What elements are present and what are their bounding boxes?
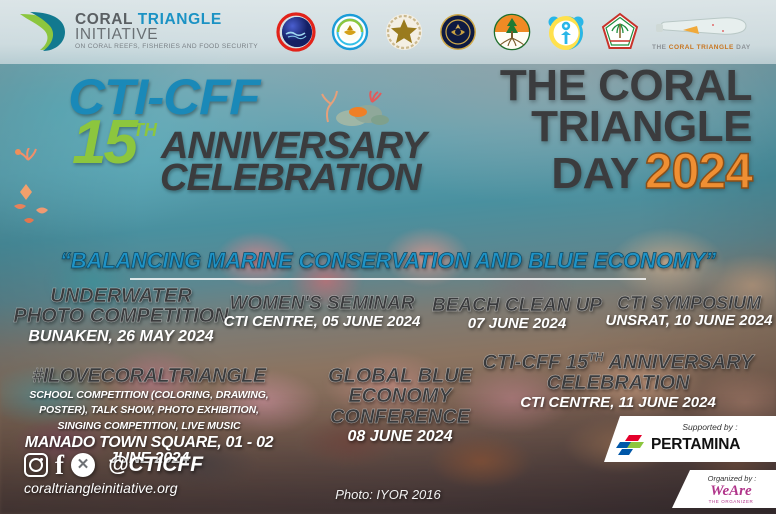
- cti-logo-line3: ON CORAL REEFS, FISHERIES AND FOOD SECUR…: [75, 43, 258, 51]
- organizer-caption: Organized by :: [708, 474, 757, 483]
- cti-logo-line2: INITIATIVE: [75, 27, 258, 43]
- tagline-divider: [130, 278, 646, 280]
- event-subtitle: CTI CENTRE, 11 JUNE 2024: [462, 395, 774, 411]
- message-in-a-bottle-icon: [653, 14, 749, 42]
- weare-organizer-logo-icon: WeAre: [710, 484, 751, 499]
- event-beach-clean-up: BEACH CLEAN UP 07 JUNE 2024: [432, 296, 602, 332]
- manado-city-mascot-logo-icon: [546, 12, 586, 52]
- sponsor-body: PERTAMINA: [616, 434, 776, 456]
- event-title-line2: PHOTO COMPETITION: [6, 306, 236, 326]
- right-title-block: THE CORAL TRIANGLE DAY 2024: [422, 66, 752, 195]
- social-icon-row: f ✕ @CTICFF: [24, 453, 203, 477]
- event-detail-line1: SCHOOL COMPETITION (COLORING, DRAWING,: [2, 389, 296, 401]
- cti-cff-title: CTI-CFF: [68, 74, 456, 122]
- coral-day-line3-row: DAY 2024: [422, 148, 752, 195]
- event-title-line2: CELEBRATION: [462, 373, 774, 393]
- event-detail-line2: POSTER), TALK SHOW, PHOTO EXHIBITION,: [2, 404, 296, 416]
- event-title-line1: CTI SYMPOSIUM: [604, 294, 774, 312]
- event-cti-cff-15th-anniversary-celebration: CTI-CFF 15TH ANNIVERSARY CELEBRATION CTI…: [462, 352, 774, 411]
- poster-canvas: CORAL TRIANGLE INITIATIVE ON CORAL REEFS…: [0, 0, 776, 514]
- event-title-line1: BEACH CLEAN UP: [432, 296, 602, 315]
- celebration-word: CELEBRATION: [160, 161, 452, 195]
- instagram-icon[interactable]: [24, 453, 48, 477]
- coordinating-ministry-maritime-affairs-seal-icon: [276, 12, 316, 52]
- sponsor-caption: Supported by :: [644, 422, 776, 432]
- event-title-line1: UNDERWATER: [6, 286, 236, 306]
- organizer-card: Organized by : WeAre THE ORGANIZER: [672, 470, 776, 508]
- event-subtitle: CTI CENTRE, 05 JUNE 2024: [214, 314, 430, 330]
- facebook-icon[interactable]: f: [55, 453, 64, 477]
- event-detail-line3: SINGING COMPETITION, LIVE MUSIC: [2, 420, 296, 432]
- pertamina-arrow-logo-icon: [616, 434, 646, 456]
- event-underwater-photo-competition: UNDERWATER PHOTO COMPETITION BUNAKEN, 26…: [6, 286, 236, 346]
- social-handle: @CTICFF: [108, 453, 203, 477]
- cti-swoosh-logo-icon: [16, 10, 66, 54]
- event-title-line1: #ILOVECORALTRIANGLE: [2, 366, 296, 386]
- coral-day-line3: DAY: [551, 154, 638, 195]
- x-twitter-icon[interactable]: ✕: [71, 453, 95, 477]
- sponsor-name: PERTAMINA: [651, 436, 740, 454]
- cti-logo-wordmark: CORAL TRIANGLE INITIATIVE ON CORAL REEFS…: [75, 12, 258, 51]
- event-subtitle: UNSRAT, 10 JUNE 2024: [604, 313, 774, 329]
- event-title-line1: CTI-CFF 15TH ANNIVERSARY: [462, 352, 774, 373]
- poster-tagline: “BALANCING MARINE CONSERVATION AND BLUE …: [0, 248, 776, 274]
- coral-day-line1: THE CORAL: [422, 66, 752, 107]
- coral-day-line2: TRIANGLE: [422, 107, 752, 148]
- national-agency-navy-blue-seal-icon: [438, 12, 478, 52]
- coral-day-year: 2024: [645, 148, 752, 195]
- event-subtitle: 08 JUNE 2024: [292, 429, 508, 446]
- ministry-marine-affairs-fisheries-seal-icon: [330, 12, 370, 52]
- left-title-block: CTI-CFF 15 TH ANNIVERSARY CELEBRATION: [72, 74, 452, 195]
- cti-cff-logo: CORAL TRIANGLE INITIATIVE ON CORAL REEFS…: [16, 10, 258, 54]
- photo-credit: Photo: IYOR 2016: [0, 487, 776, 502]
- event-subtitle: 07 JUNE 2024: [432, 316, 602, 332]
- event-subtitle: BUNAKEN, 26 MAY 2024: [6, 329, 236, 346]
- north-sulawesi-province-seal-icon: [600, 12, 640, 52]
- organizer-subtitle: THE ORGANIZER: [709, 499, 754, 504]
- ministry-environment-forestry-seal-icon: [492, 12, 532, 52]
- partner-logo-row: [276, 12, 640, 52]
- coral-triangle-day-bottle-logo: THE CORAL TRIANGLE DAY: [652, 14, 751, 51]
- event-cti-symposium: CTI SYMPOSIUM UNSRAT, 10 JUNE 2024: [604, 294, 774, 329]
- event-title-line1: WOMEN'S SEMINAR: [214, 294, 430, 313]
- coral-triangle-day-caption: THE CORAL TRIANGLE DAY: [652, 44, 751, 51]
- event-womens-seminar: WOMEN'S SEMINAR CTI CENTRE, 05 JUNE 2024: [214, 294, 430, 330]
- gold-star-emblem-seal-icon: [384, 12, 424, 52]
- header-logo-strip: CORAL TRIANGLE INITIATIVE ON CORAL REEFS…: [0, 0, 776, 64]
- sponsor-card: Supported by : PERTAMINA: [604, 416, 776, 462]
